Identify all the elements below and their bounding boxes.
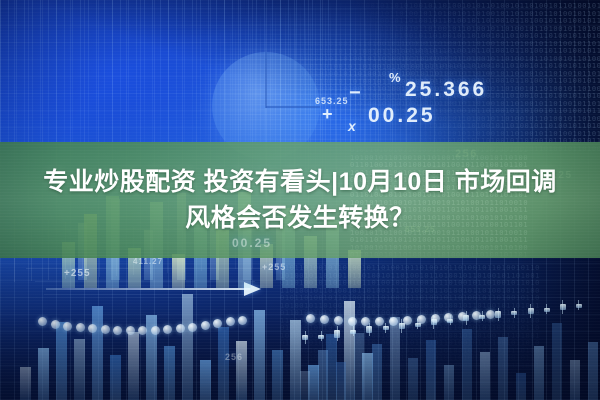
candlestick-body <box>399 323 405 329</box>
chart-bar <box>336 362 346 400</box>
candlestick <box>431 315 437 329</box>
scatter-dot <box>188 323 197 332</box>
chart-bar <box>110 355 121 400</box>
chart-bar <box>426 340 436 400</box>
candlestick-body <box>528 308 534 314</box>
candlestick-body <box>544 308 550 312</box>
chart-bar <box>236 341 247 400</box>
chart-bar <box>318 350 328 400</box>
scatter-dot <box>213 319 222 328</box>
candlestick <box>366 323 372 337</box>
scatter-dot <box>101 325 110 334</box>
scatter-dot <box>226 317 235 326</box>
value-65325-label: 653.25 <box>315 96 349 106</box>
dial-spoke-horizontal <box>266 106 320 108</box>
chart-bar <box>480 352 490 400</box>
scatter-dot <box>63 322 72 331</box>
candlestick <box>495 308 501 322</box>
value-41127-label: 411.27 <box>133 257 163 266</box>
candlestick-body <box>495 311 501 317</box>
candlestick <box>463 311 469 325</box>
candlestick <box>334 326 340 341</box>
candlestick-body <box>479 315 485 319</box>
scatter-dot <box>238 316 247 325</box>
candlestick-body <box>302 335 308 340</box>
candlestick-body <box>431 319 437 325</box>
chart-bar <box>38 348 49 400</box>
chart-bar <box>516 373 526 400</box>
scatter-dot <box>126 326 135 335</box>
value-255-small-label: +255 <box>262 262 286 272</box>
value-0025-label: 00.25 <box>368 104 436 128</box>
chart-bar <box>74 339 85 400</box>
candlestick <box>302 331 308 344</box>
candlestick-body <box>511 311 517 315</box>
scatter-dot <box>51 320 60 329</box>
operator-plus-label: + <box>322 104 336 125</box>
chart-bar <box>570 360 580 400</box>
chart-bar <box>408 358 418 400</box>
chart-bar <box>164 346 175 400</box>
candlestick-body <box>463 315 469 321</box>
candlestick-chart <box>302 300 592 344</box>
title-line-2: 风格会否发生转换？ <box>185 201 415 235</box>
title-line-1: 专业炒股配资 投资有看头|10月10日 市场回调 <box>43 165 557 199</box>
candlestick <box>318 331 324 341</box>
chart-bar <box>20 367 31 400</box>
chart-bar <box>534 346 544 400</box>
candlestick <box>528 304 534 318</box>
banner-title: 专业炒股配资 投资有看头|10月10日 市场回调 风格会否发生转换？ <box>0 142 600 258</box>
candlestick <box>383 323 389 333</box>
candlestick-body <box>366 326 372 332</box>
chart-bar <box>444 365 454 400</box>
scatter-dot <box>176 324 185 333</box>
operator-percent-label: % <box>389 70 404 85</box>
candlestick <box>415 319 421 329</box>
scatter-dot <box>201 321 210 330</box>
value-255-label: +255 <box>64 268 91 279</box>
scatter-dot <box>151 326 160 335</box>
candlestick-body <box>334 330 340 338</box>
candlestick-body <box>318 335 324 339</box>
candlestick <box>447 315 453 325</box>
candlestick <box>350 326 356 336</box>
scatter-dots-left <box>38 300 238 346</box>
banner-image: 0100101101010010110100101011010010110100… <box>0 0 600 400</box>
chart-bar <box>200 360 211 400</box>
scatter-dot <box>138 326 147 335</box>
candlestick-body <box>383 326 389 330</box>
candlestick-body <box>350 330 356 334</box>
chart-bar <box>272 350 283 400</box>
scatter-dot <box>38 317 47 326</box>
chart-bar <box>372 344 382 400</box>
candlestick <box>560 300 566 314</box>
scatter-dot <box>113 326 122 335</box>
operator-minus-label: − <box>349 82 364 105</box>
candlestick <box>479 311 485 321</box>
candlestick <box>576 300 582 310</box>
chart-bar <box>588 342 598 400</box>
candlestick-body <box>447 319 453 323</box>
scatter-dot <box>76 323 85 332</box>
candlestick <box>399 319 405 333</box>
chart-bar <box>498 337 508 400</box>
candlestick-body <box>576 304 582 308</box>
scatter-dot <box>88 324 97 333</box>
candlestick-body <box>560 304 566 310</box>
candlestick <box>511 308 517 318</box>
operator-multiply-label: x <box>348 118 359 134</box>
candlestick-body <box>415 323 421 327</box>
value-25366-label: 25.366 <box>405 78 487 102</box>
value-256-small-label: 256 <box>225 352 243 362</box>
chart-bar <box>300 371 310 400</box>
candlestick <box>544 304 550 314</box>
chart-bar <box>254 310 265 400</box>
scatter-dot <box>163 325 172 334</box>
dial-spoke-vertical <box>265 52 267 108</box>
